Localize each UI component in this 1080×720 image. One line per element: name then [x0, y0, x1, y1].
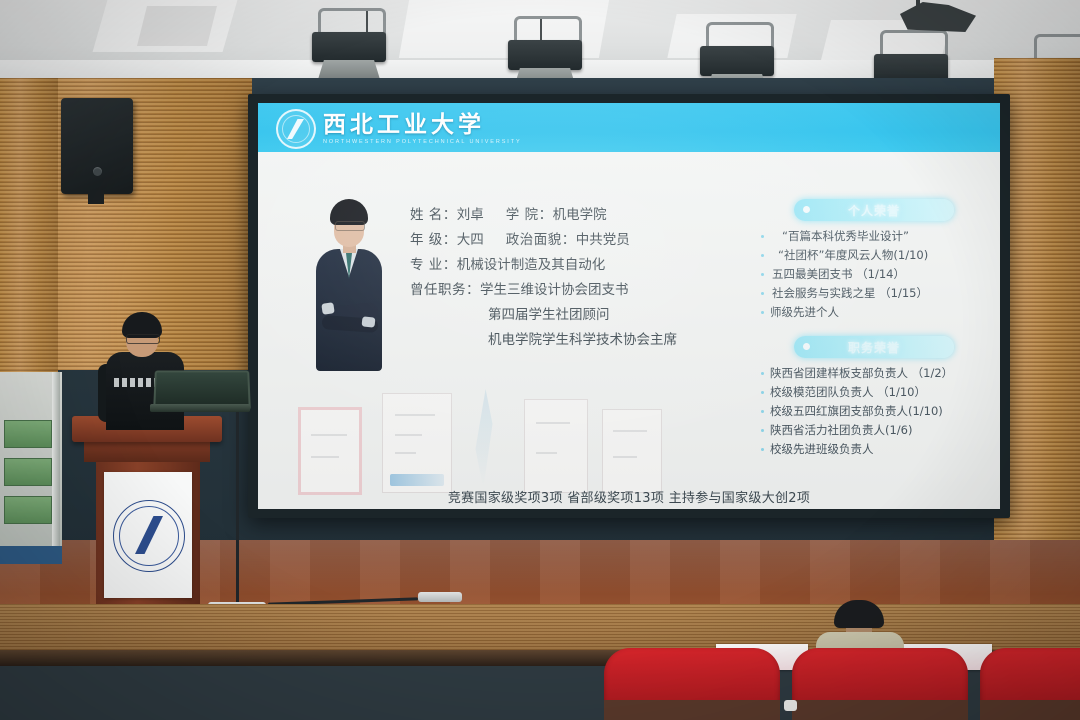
section-title-pill: 个人荣誉 [794, 199, 954, 221]
speaker-mount [88, 190, 104, 204]
podium-seal-plaque [104, 472, 192, 598]
certificate-thumb [602, 409, 662, 493]
info-row: 曾任职务： 学生三维设计协会团支书 [410, 278, 730, 303]
info-extra-line: 第四届学生社团顾问 [410, 303, 730, 328]
list-item: 校级模范团队负责人 （1/10） [760, 383, 988, 402]
presenter-laptop [150, 370, 246, 412]
presentation-slide: 西北工业大学 NORTHWESTERN POLYTECHNICAL UNIVER… [258, 103, 1000, 509]
certificate-thumb [298, 407, 362, 495]
certificate-thumb [524, 399, 588, 493]
section-personal-honors: 个人荣誉 “百篇本科优秀毕业设计” “社团杯”年度风云人物(1/10) 五四最美… [760, 199, 988, 322]
seat-back [604, 700, 780, 720]
personal-honors-list: “百篇本科优秀毕业设计” “社团杯”年度风云人物(1/10) 五四最美团支书 （… [760, 227, 988, 322]
list-item: 社会服务与实践之星 （1/15） [760, 284, 988, 303]
info-label-major: 专 业： [410, 253, 457, 278]
info-value-major: 机械设计制造及其自动化 [457, 253, 606, 278]
truss-pole [916, 0, 920, 26]
auditorium-scene: 西北工业大学 NORTHWESTERN POLYTECHNICAL UNIVER… [0, 0, 1080, 720]
logo-chinese-name: 西北工业大学 [323, 113, 522, 136]
info-label-political: 政治面貌： [506, 228, 576, 253]
position-honors-list: 陕西省团建样板支部负责人 （1/2） 校级模范团队负责人 （1/10） 校级五四… [760, 364, 988, 459]
section-title-text: 个人荣誉 [794, 202, 954, 219]
university-seal-icon [276, 109, 316, 149]
list-item: 校级先进班级负责人 [760, 440, 988, 459]
info-row: 专 业： 机械设计制造及其自动化 [410, 253, 730, 278]
university-seal-icon [113, 500, 185, 572]
slide-bottom-summary: 竞赛国家级奖项3项 省部级奖项13项 主持参与国家级大创2项 [258, 487, 1000, 506]
list-item: “社团杯”年度风云人物(1/10) [760, 246, 988, 265]
list-item: 陕西省团建样板支部负责人 （1/2） [760, 364, 988, 383]
power-cable [236, 380, 239, 606]
small-white-object [784, 700, 797, 711]
info-value-grade: 大四 [457, 228, 484, 253]
certificate-thumbnails [298, 393, 718, 493]
student-info-block: 姓 名： 刘卓 学 院： 机电学院 年 级： 大四 政治面貌： 中共党员 专 业… [410, 203, 730, 353]
seat-back [792, 700, 968, 720]
ceiling-shadow [137, 6, 217, 46]
section-title-pill: 职务荣誉 [794, 336, 954, 358]
list-item: 校级五四红旗团支部负责人(1/10) [760, 402, 988, 421]
slide-right-panel: 个人荣誉 “百篇本科优秀毕业设计” “社团杯”年度风云人物(1/10) 五四最美… [760, 199, 988, 459]
wall-speaker [61, 98, 133, 194]
podium [72, 416, 222, 616]
list-item: “百篇本科优秀毕业设计” [760, 227, 988, 246]
info-row: 姓 名： 刘卓 学 院： 机电学院 [410, 203, 730, 228]
logo-english-name: NORTHWESTERN POLYTECHNICAL UNIVERSITY [323, 139, 522, 145]
info-value-political: 中共党员 [576, 228, 630, 253]
power-strip [418, 592, 462, 602]
info-extra-line: 机电学院学生科学技术协会主席 [410, 328, 730, 353]
student-portrait [312, 199, 386, 371]
info-label-name: 姓 名： [410, 203, 457, 228]
eyeglasses-icon [126, 334, 160, 344]
info-value-college: 机电学院 [553, 203, 607, 228]
certificate-thumb [382, 393, 452, 493]
info-row: 年 级： 大四 政治面貌： 中共党员 [410, 228, 730, 253]
list-item: 陕西省活力社团负责人(1/6) [760, 421, 988, 440]
info-label-positions: 曾任职务： [410, 278, 480, 303]
info-value-name: 刘卓 [457, 203, 484, 228]
section-position-honors: 职务荣誉 陕西省团建样板支部负责人 （1/2） 校级模范团队负责人 （1/10）… [760, 336, 988, 459]
list-item: 师级先进个人 [760, 303, 988, 322]
seat-back [980, 700, 1080, 720]
university-logo: 西北工业大学 NORTHWESTERN POLYTECHNICAL UNIVER… [276, 109, 522, 149]
info-value-positions: 学生三维设计协会团支书 [480, 278, 629, 303]
left-equipment-rack [0, 372, 62, 564]
list-item: 五四最美团支书 （1/14） [760, 265, 988, 284]
info-label-college: 学 院： [506, 203, 553, 228]
section-title-text: 职务荣誉 [794, 339, 954, 356]
info-label-grade: 年 级： [410, 228, 457, 253]
slide-header: 西北工业大学 NORTHWESTERN POLYTECHNICAL UNIVER… [258, 103, 1000, 152]
